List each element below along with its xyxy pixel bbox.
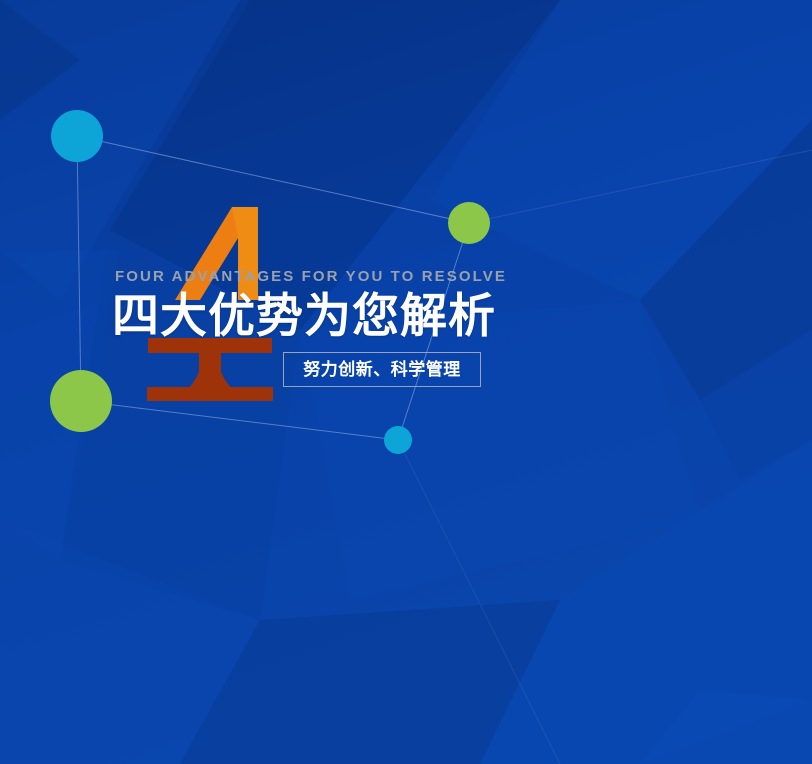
circle-green-right — [448, 202, 490, 244]
promo-banner: FOUR ADVANTAGES FOR YOU TO RESOLVE 四大优势为… — [0, 0, 812, 764]
circle-green-bottom-left — [50, 370, 112, 432]
line-green-right-to-edge — [469, 150, 812, 223]
eyebrow-text: FOUR ADVANTAGES FOR YOU TO RESOLVE — [115, 268, 752, 286]
tagline-box: 努力创新、科学管理 — [283, 352, 481, 387]
line-cyan-top-to-green-bottom — [77, 136, 81, 401]
page-title: 四大优势为您解析 — [112, 289, 752, 343]
tagline-text: 努力创新、科学管理 — [303, 360, 461, 380]
circle-cyan-top-left — [51, 110, 103, 162]
line-green-bottom-to-cyan-bottom — [81, 401, 398, 440]
circle-cyan-bottom — [384, 426, 412, 454]
headline-block: FOUR ADVANTAGES FOR YOU TO RESOLVE 四大优势为… — [112, 268, 752, 343]
line-cyan-top-to-green-right — [77, 136, 469, 223]
line-cyan-bottom-to-edge — [398, 440, 560, 764]
connector-lines — [77, 136, 812, 764]
watermark-glyph-gong-icon — [147, 338, 273, 401]
